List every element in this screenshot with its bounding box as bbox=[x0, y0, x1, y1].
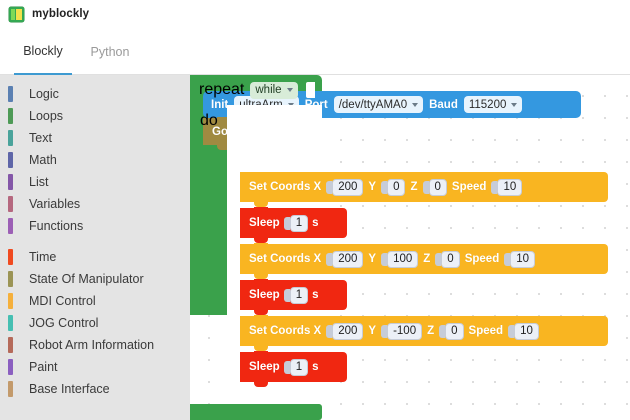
sleep-value-field[interactable]: 1 bbox=[284, 286, 308, 305]
init-port-dropdown[interactable]: /dev/ttyAMA0 bbox=[334, 96, 423, 113]
sidebar-item-label: Time bbox=[29, 250, 56, 264]
sidebar-item-mdi-control[interactable]: MDI Control bbox=[0, 290, 190, 312]
block-set-coords[interactable]: Set Coords X 200 Y 0 Z 0 Speed 10 bbox=[240, 172, 608, 202]
blockly-app-icon bbox=[9, 7, 24, 22]
sidebar-item-math[interactable]: Math bbox=[0, 149, 190, 171]
set-coords-label: Set Coords X bbox=[249, 181, 321, 193]
block-repeat-label: repeat bbox=[199, 81, 244, 99]
init-port-value: /dev/ttyAMA0 bbox=[339, 99, 407, 111]
sidebar-item-label: Loops bbox=[29, 109, 63, 123]
sidebar-item-label: Paint bbox=[29, 360, 58, 374]
set-coords-speed-field[interactable]: 10 bbox=[508, 322, 539, 341]
set-coords-y-label: Y bbox=[368, 253, 376, 265]
set-coords-y-value: -100 bbox=[387, 323, 422, 340]
set-coords-x-value: 200 bbox=[332, 179, 363, 196]
set-coords-z-value: 0 bbox=[429, 179, 447, 196]
myblockly-window: myblockly Blockly Python Logic Loops Tex… bbox=[0, 0, 630, 420]
block-set-coords[interactable]: Set Coords X 200 Y -100 Z 0 Speed 10 bbox=[240, 316, 608, 346]
set-coords-z-value: 0 bbox=[441, 251, 459, 268]
sidebar-item-label: JOG Control bbox=[29, 316, 98, 330]
category-color-swatch bbox=[8, 108, 13, 124]
set-coords-x-field[interactable]: 200 bbox=[326, 322, 363, 341]
sidebar-item-label: Robot Arm Information bbox=[29, 338, 154, 352]
set-coords-y-field[interactable]: -100 bbox=[381, 322, 422, 341]
sidebar-item-label: Logic bbox=[29, 87, 59, 101]
set-coords-speed-value: 10 bbox=[514, 323, 539, 340]
set-coords-y-label: Y bbox=[368, 325, 376, 337]
set-coords-y-label: Y bbox=[368, 181, 376, 193]
value-plug bbox=[423, 181, 429, 194]
set-coords-y-value: 0 bbox=[387, 179, 405, 196]
chevron-down-icon bbox=[511, 103, 517, 107]
set-coords-x-field[interactable]: 200 bbox=[326, 250, 363, 269]
set-coords-speed-label: Speed bbox=[452, 181, 487, 193]
loop-mode-value: while bbox=[255, 84, 281, 96]
sidebar-item-label: MDI Control bbox=[29, 294, 96, 308]
category-color-swatch bbox=[8, 174, 13, 190]
set-coords-speed-value: 10 bbox=[497, 179, 522, 196]
category-color-swatch bbox=[8, 152, 13, 168]
sleep-label: Sleep bbox=[249, 361, 280, 373]
set-coords-speed-value: 10 bbox=[510, 251, 535, 268]
set-coords-z-field[interactable]: 0 bbox=[435, 250, 459, 269]
sidebar-item-label: Math bbox=[29, 153, 57, 167]
sidebar-item-list[interactable]: List bbox=[0, 171, 190, 193]
set-coords-label: Set Coords X bbox=[249, 325, 321, 337]
sleep-unit-label: s bbox=[312, 217, 318, 229]
block-set-coords[interactable]: Set Coords X 200 Y 100 Z 0 Speed 10 bbox=[240, 244, 608, 274]
block-sleep[interactable]: Sleep 1 s bbox=[240, 352, 347, 382]
chevron-down-icon bbox=[412, 103, 418, 107]
category-color-swatch bbox=[8, 337, 13, 353]
loop-mode-dropdown[interactable]: while bbox=[250, 82, 297, 99]
sidebar-item-label: Variables bbox=[29, 197, 80, 211]
sleep-value-field[interactable]: 1 bbox=[284, 358, 308, 377]
category-color-swatch bbox=[8, 315, 13, 331]
tab-bar: Blockly Python bbox=[0, 28, 630, 75]
sidebar-item-logic[interactable]: Logic bbox=[0, 83, 190, 105]
sidebar-item-time[interactable]: Time bbox=[0, 246, 190, 268]
toolbox-sidebar: Logic Loops Text Math List Variables Fun… bbox=[0, 75, 190, 420]
set-coords-x-field[interactable]: 200 bbox=[326, 178, 363, 197]
block-sleep[interactable]: Sleep 1 s bbox=[240, 280, 347, 310]
set-coords-z-label: Z bbox=[410, 181, 417, 193]
sleep-value: 1 bbox=[290, 359, 308, 376]
sidebar-item-functions[interactable]: Functions bbox=[0, 215, 190, 237]
sidebar-item-label: Functions bbox=[29, 219, 83, 233]
set-coords-x-value: 200 bbox=[332, 323, 363, 340]
tab-blockly[interactable]: Blockly bbox=[14, 28, 72, 75]
value-plug bbox=[284, 217, 290, 230]
sidebar-item-label: Text bbox=[29, 131, 52, 145]
set-coords-y-value: 100 bbox=[387, 251, 418, 268]
sidebar-divider bbox=[0, 237, 190, 246]
set-coords-z-field[interactable]: 0 bbox=[439, 322, 463, 341]
window-title: myblockly bbox=[32, 8, 89, 20]
sidebar-item-variables[interactable]: Variables bbox=[0, 193, 190, 215]
loop-footer bbox=[190, 404, 322, 420]
sidebar-item-loops[interactable]: Loops bbox=[0, 105, 190, 127]
category-color-swatch bbox=[8, 359, 13, 375]
sidebar-item-state-of-manipulator[interactable]: State Of Manipulator bbox=[0, 268, 190, 290]
sleep-value-field[interactable]: 1 bbox=[284, 214, 308, 233]
sleep-unit-label: s bbox=[312, 289, 318, 301]
value-plug bbox=[284, 361, 290, 374]
category-color-swatch bbox=[8, 130, 13, 146]
set-coords-x-value: 200 bbox=[332, 251, 363, 268]
set-coords-z-label: Z bbox=[423, 253, 430, 265]
chevron-down-icon bbox=[287, 88, 293, 92]
loop-do-label: do bbox=[200, 112, 218, 130]
sleep-value: 1 bbox=[290, 215, 308, 232]
set-coords-speed-label: Speed bbox=[469, 325, 504, 337]
init-baud-value: 115200 bbox=[469, 99, 507, 111]
loop-condition-socket[interactable] bbox=[306, 82, 315, 98]
set-coords-z-value: 0 bbox=[445, 323, 463, 340]
set-coords-label: Set Coords X bbox=[249, 253, 321, 265]
title-bar: myblockly bbox=[0, 0, 630, 28]
block-sleep[interactable]: Sleep 1 s bbox=[240, 208, 347, 238]
set-coords-y-field[interactable]: 0 bbox=[381, 178, 405, 197]
sidebar-item-text[interactable]: Text bbox=[0, 127, 190, 149]
sidebar-item-paint[interactable]: Paint bbox=[0, 356, 190, 378]
value-plug bbox=[284, 289, 290, 302]
category-color-swatch bbox=[8, 381, 13, 397]
sidebar-item-label: State Of Manipulator bbox=[29, 272, 144, 286]
sidebar-item-label: List bbox=[29, 175, 48, 189]
sidebar-item-robot-arm-information[interactable]: Robot Arm Information bbox=[0, 334, 190, 356]
blockly-workspace-canvas[interactable]: Init ultraArm Port /dev/ttyAMA0 Baud 115… bbox=[190, 75, 630, 420]
category-color-swatch bbox=[8, 218, 13, 234]
category-color-swatch bbox=[8, 86, 13, 102]
sidebar-item-jog-control[interactable]: JOG Control bbox=[0, 312, 190, 334]
sleep-value: 1 bbox=[290, 287, 308, 304]
set-coords-speed-label: Speed bbox=[465, 253, 500, 265]
sidebar-item-label: Base Interface bbox=[29, 382, 110, 396]
category-color-swatch bbox=[8, 196, 13, 212]
sleep-unit-label: s bbox=[312, 361, 318, 373]
category-color-swatch bbox=[8, 293, 13, 309]
loop-header[interactable]: repeat while bbox=[190, 75, 322, 105]
sidebar-item-base-interface[interactable]: Base Interface bbox=[0, 378, 190, 400]
category-color-swatch bbox=[8, 249, 13, 265]
init-baud-label: Baud bbox=[429, 99, 458, 111]
set-coords-z-field[interactable]: 0 bbox=[423, 178, 447, 197]
init-baud-dropdown[interactable]: 115200 bbox=[464, 96, 523, 113]
set-coords-z-label: Z bbox=[427, 325, 434, 337]
category-color-swatch bbox=[8, 271, 13, 287]
set-coords-speed-field[interactable]: 10 bbox=[491, 178, 522, 197]
tab-python[interactable]: Python bbox=[84, 28, 136, 75]
sleep-label: Sleep bbox=[249, 289, 280, 301]
sleep-label: Sleep bbox=[249, 217, 280, 229]
set-coords-y-field[interactable]: 100 bbox=[381, 250, 418, 269]
set-coords-speed-field[interactable]: 10 bbox=[504, 250, 535, 269]
